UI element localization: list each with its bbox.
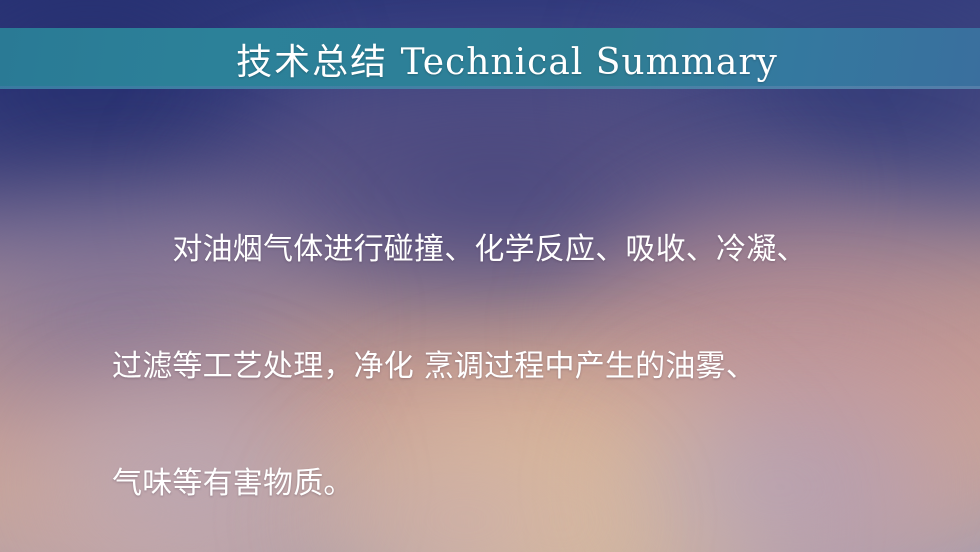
slide-body-text: 对油烟气体进行碰撞、化学反应、吸收、冷凝、 过滤等工艺处理，净化 烹调过程中产生… [112,152,912,552]
body-line: 过滤等工艺处理，净化 烹调过程中产生的油雾、 [112,347,912,386]
slide-title: 技术总结 Technical Summary [236,33,778,85]
presentation-slide: 技术总结 Technical Summary 对油烟气体进行碰撞、化学反应、吸收… [0,0,980,552]
title-band: 技术总结 Technical Summary [0,28,980,89]
slide-title-english: Technical Summary [401,42,778,83]
body-line: 气味等有害物质。 [112,464,912,503]
slide-title-spacer [388,42,400,83]
body-line: 对油烟气体进行碰撞、化学反应、吸收、冷凝、 [112,230,912,269]
slide-title-chinese: 技术总结 [236,42,388,83]
